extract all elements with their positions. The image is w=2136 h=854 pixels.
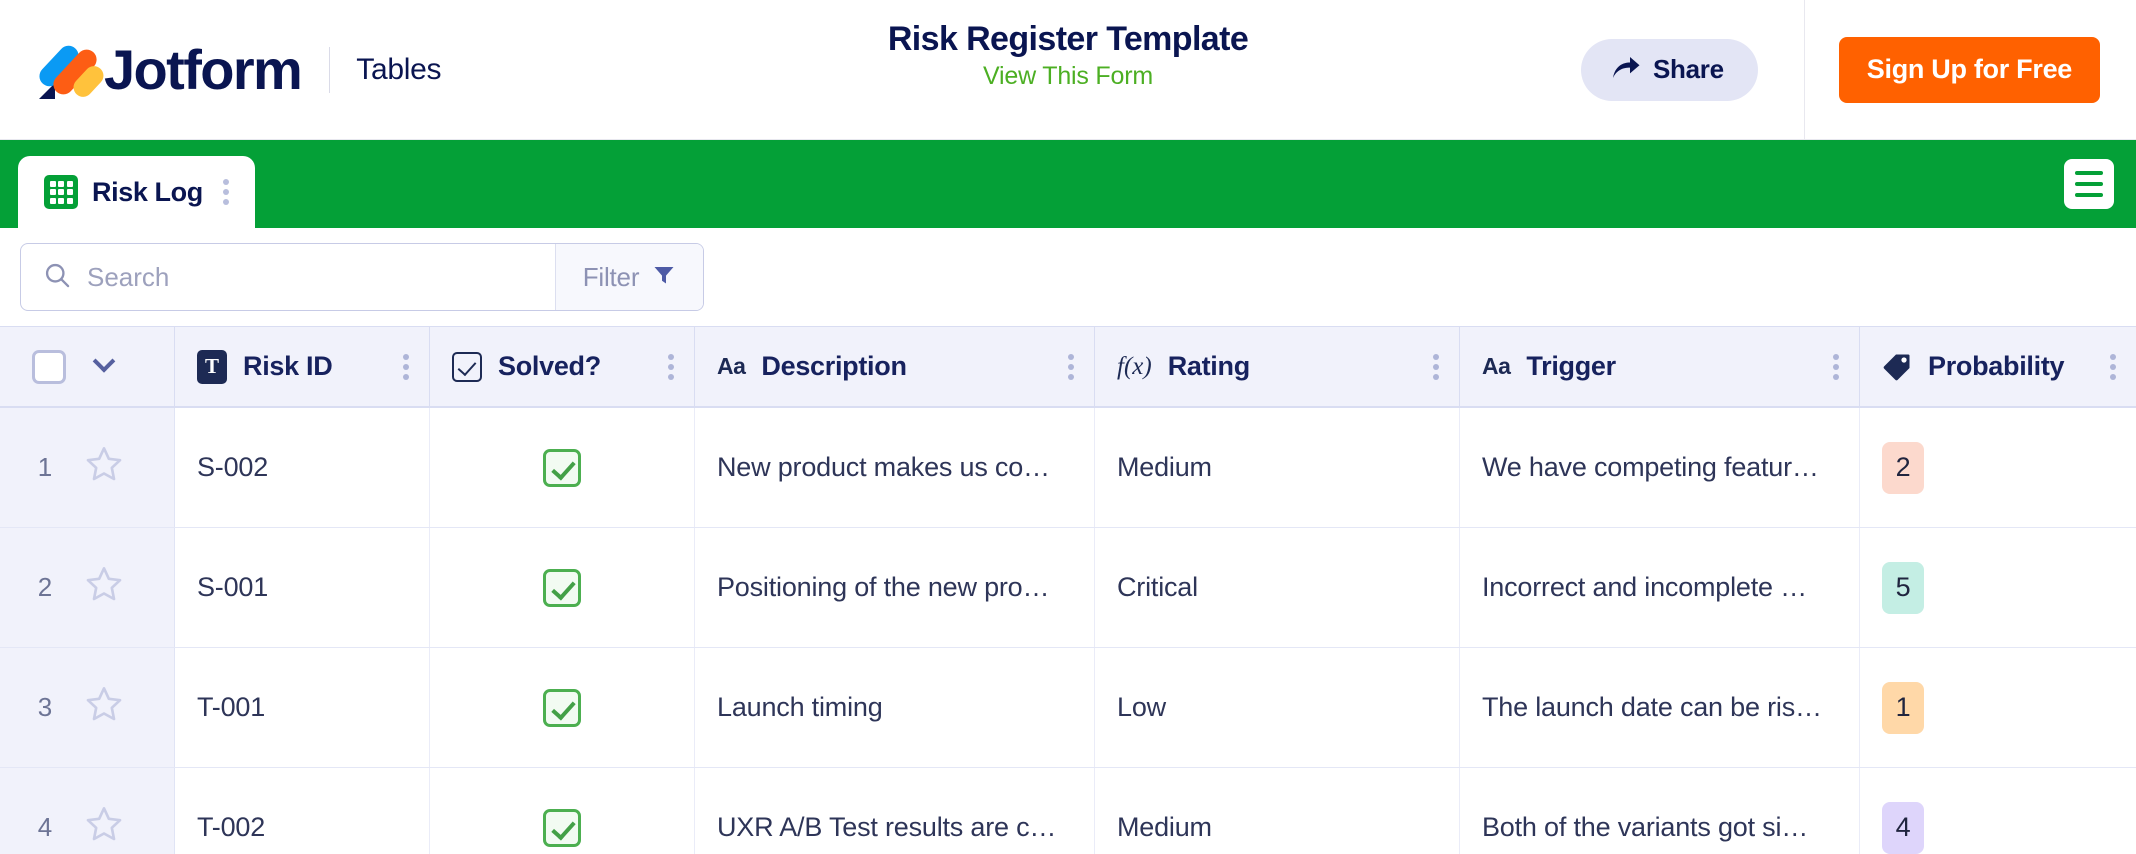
row-select-cell[interactable]: 2 <box>0 528 175 647</box>
select-all-checkbox[interactable] <box>32 350 66 384</box>
header-col-trigger-menu-icon[interactable] <box>1827 350 1845 384</box>
table-row[interactable]: 4T-002UXR A/B Test results are c…MediumB… <box>0 768 2136 854</box>
top-header-bar: Jotform Tables Risk Register Template Vi… <box>0 0 2136 140</box>
tab-risk-log[interactable]: Risk Log <box>18 156 255 228</box>
cell-probability[interactable]: 4 <box>1860 768 2136 854</box>
header-col-trigger-label: Trigger <box>1526 351 1615 382</box>
tag-field-icon <box>1882 352 1912 382</box>
long-text-field-icon: Aa <box>717 353 745 380</box>
header-col-description-menu-icon[interactable] <box>1062 350 1080 384</box>
grid-table-icon <box>44 175 78 209</box>
star-icon[interactable] <box>84 804 124 851</box>
chevron-down-icon[interactable] <box>93 350 116 373</box>
cell-trigger[interactable]: Both of the variants got si… <box>1460 768 1860 854</box>
cell-solved[interactable] <box>430 408 695 527</box>
row-number: 3 <box>30 692 52 723</box>
brand-area: Jotform Tables <box>0 40 441 100</box>
cell-risk-id[interactable]: S-001 <box>175 528 430 647</box>
cell-description[interactable]: UXR A/B Test results are c… <box>695 768 1095 854</box>
cell-rating[interactable]: Critical <box>1095 528 1460 647</box>
product-name-tables[interactable]: Tables <box>356 53 441 87</box>
tab-options-icon[interactable] <box>217 175 235 209</box>
funnel-icon <box>652 263 676 292</box>
cell-risk-id[interactable]: T-001 <box>175 648 430 767</box>
header-col-probability-label: Probability <box>1928 351 2064 382</box>
header-divider <box>1804 0 1805 140</box>
cell-probability[interactable]: 5 <box>1860 528 2136 647</box>
star-icon[interactable] <box>84 684 124 731</box>
probability-badge: 1 <box>1882 682 1924 734</box>
cell-solved[interactable] <box>430 768 695 854</box>
table-row[interactable]: 3T-001Launch timingLowThe launch date ca… <box>0 648 2136 768</box>
cell-probability[interactable]: 2 <box>1860 408 2136 527</box>
cell-description[interactable]: Launch timing <box>695 648 1095 767</box>
header-col-rating-menu-icon[interactable] <box>1427 350 1445 384</box>
header-col-description[interactable]: Aa Description <box>695 327 1095 406</box>
header-col-probability[interactable]: Probability <box>1860 327 2136 406</box>
text-field-icon: T <box>197 350 227 384</box>
cell-rating[interactable]: Low <box>1095 648 1460 767</box>
header-col-risk-id-menu-icon[interactable] <box>397 350 415 384</box>
cell-trigger[interactable]: We have competing featur… <box>1460 408 1860 527</box>
probability-badge: 2 <box>1882 442 1924 494</box>
search-field-wrap <box>21 244 555 310</box>
filter-button[interactable]: Filter <box>555 244 703 310</box>
star-icon[interactable] <box>84 444 124 491</box>
hamburger-menu-icon[interactable] <box>2064 159 2114 209</box>
sheet-tab-bar: Risk Log <box>0 140 2136 228</box>
search-icon <box>43 261 71 294</box>
cell-description[interactable]: New product makes us co… <box>695 408 1095 527</box>
header-col-risk-id-label: Risk ID <box>243 351 332 382</box>
row-number: 1 <box>30 452 52 483</box>
share-arrow-icon <box>1611 55 1641 84</box>
header-col-rating[interactable]: f(x) Rating <box>1095 327 1460 406</box>
row-number: 2 <box>30 572 52 603</box>
cell-solved[interactable] <box>430 528 695 647</box>
header-col-rating-label: Rating <box>1168 351 1250 382</box>
header-col-risk-id[interactable]: T Risk ID <box>175 327 430 406</box>
brand-divider <box>329 47 330 93</box>
checkbox-field-icon <box>452 352 482 382</box>
signup-for-free-button[interactable]: Sign Up for Free <box>1839 37 2100 103</box>
jotform-logo-icon[interactable] <box>32 40 96 100</box>
risk-log-table: T Risk ID Solved? Aa Description f(x) Ra… <box>0 326 2136 854</box>
cell-risk-id[interactable]: T-002 <box>175 768 430 854</box>
solved-checkbox-checked[interactable] <box>543 569 581 607</box>
table-body: 1S-002New product makes us co…MediumWe h… <box>0 408 2136 854</box>
search-input[interactable] <box>87 262 555 293</box>
cell-solved[interactable] <box>430 648 695 767</box>
cell-rating[interactable]: Medium <box>1095 768 1460 854</box>
table-row[interactable]: 1S-002New product makes us co…MediumWe h… <box>0 408 2136 528</box>
header-col-description-label: Description <box>761 351 906 382</box>
header-col-probability-menu-icon[interactable] <box>2104 350 2122 384</box>
formula-field-icon: f(x) <box>1117 353 1152 381</box>
cell-description[interactable]: Positioning of the new pro… <box>695 528 1095 647</box>
row-select-cell[interactable]: 1 <box>0 408 175 527</box>
header-col-solved-label: Solved? <box>498 351 601 382</box>
search-filter-group: Filter <box>20 243 704 311</box>
tab-risk-log-label: Risk Log <box>92 177 203 208</box>
cell-probability[interactable]: 1 <box>1860 648 2136 767</box>
cell-risk-id[interactable]: S-002 <box>175 408 430 527</box>
table-row[interactable]: 2S-001Positioning of the new pro…Critica… <box>0 528 2136 648</box>
solved-checkbox-checked[interactable] <box>543 809 581 847</box>
cell-rating[interactable]: Medium <box>1095 408 1460 527</box>
share-button-label: Share <box>1653 54 1724 85</box>
row-number: 4 <box>30 812 52 843</box>
cell-trigger[interactable]: Incorrect and incomplete … <box>1460 528 1860 647</box>
star-icon[interactable] <box>84 564 124 611</box>
row-select-cell[interactable]: 4 <box>0 768 175 854</box>
view-this-form-link[interactable]: View This Form <box>983 62 1153 91</box>
solved-checkbox-checked[interactable] <box>543 449 581 487</box>
filter-button-label: Filter <box>583 262 640 293</box>
header-col-solved[interactable]: Solved? <box>430 327 695 406</box>
share-button[interactable]: Share <box>1581 39 1758 101</box>
row-select-cell[interactable]: 3 <box>0 648 175 767</box>
header-col-trigger[interactable]: Aa Trigger <box>1460 327 1860 406</box>
solved-checkbox-checked[interactable] <box>543 689 581 727</box>
table-toolbar: Filter <box>0 228 2136 326</box>
long-text-field-icon: Aa <box>1482 353 1510 380</box>
table-header-row: T Risk ID Solved? Aa Description f(x) Ra… <box>0 326 2136 408</box>
probability-badge: 5 <box>1882 562 1924 614</box>
brand-wordmark[interactable]: Jotform <box>104 42 301 98</box>
header-select-column <box>0 327 175 406</box>
cell-trigger[interactable]: The launch date can be ris… <box>1460 648 1860 767</box>
probability-badge: 4 <box>1882 802 1924 854</box>
header-actions: Share Sign Up for Free <box>1581 0 2136 139</box>
header-col-solved-menu-icon[interactable] <box>662 350 680 384</box>
